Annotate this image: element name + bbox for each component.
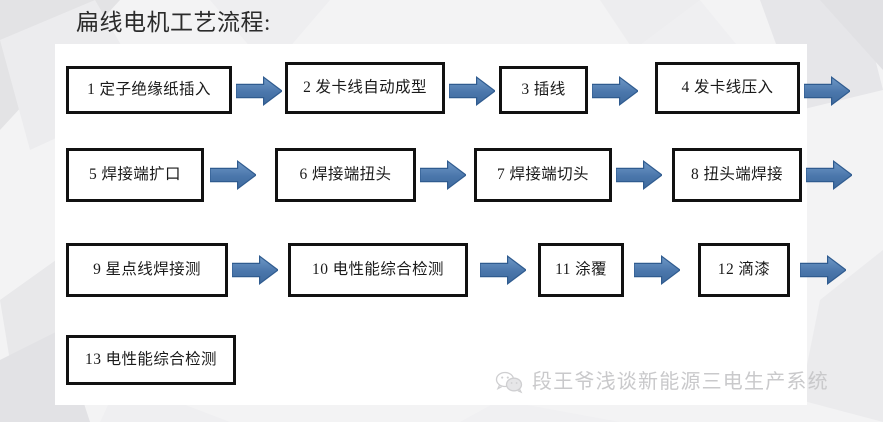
process-step-label: 1 定子绝缘纸插入 bbox=[87, 81, 211, 98]
process-step-label: 9 星点线焊接测 bbox=[93, 261, 201, 278]
process-step-label: 5 焊接端扩口 bbox=[89, 166, 181, 183]
flow-arrow-right-icon bbox=[420, 160, 466, 190]
slide-canvas: 扁线电机工艺流程: 1 定子绝缘纸插入2 发卡线自动成型3 插线4 发卡线压入5… bbox=[0, 0, 883, 422]
process-step-label: 3 插线 bbox=[521, 81, 565, 98]
process-step-8[interactable]: 8 扭头端焊接 bbox=[672, 148, 802, 202]
wechat-icon bbox=[494, 370, 524, 394]
process-step-11[interactable]: 11 涂覆 bbox=[538, 243, 624, 297]
process-step-label: 10 电性能综合检测 bbox=[312, 261, 444, 278]
flow-arrow-right-icon bbox=[480, 255, 526, 285]
process-step-3[interactable]: 3 插线 bbox=[499, 66, 588, 114]
process-step-label: 13 电性能综合检测 bbox=[85, 351, 217, 368]
process-step-6[interactable]: 6 焊接端扭头 bbox=[275, 148, 416, 202]
flow-arrow-right-icon bbox=[232, 255, 278, 285]
flow-arrow-right-icon bbox=[449, 76, 495, 106]
process-step-label: 7 焊接端切头 bbox=[497, 166, 589, 183]
process-step-12[interactable]: 12 滴漆 bbox=[698, 243, 790, 297]
flow-arrow-right-icon bbox=[634, 255, 680, 285]
process-step-1[interactable]: 1 定子绝缘纸插入 bbox=[66, 66, 232, 114]
flow-arrow-right-icon bbox=[236, 76, 282, 106]
process-step-label: 4 发卡线压入 bbox=[682, 79, 774, 96]
flow-arrow-right-icon bbox=[804, 76, 850, 106]
process-step-label: 11 涂覆 bbox=[555, 261, 607, 278]
flow-arrow-right-icon bbox=[800, 255, 846, 285]
process-step-5[interactable]: 5 焊接端扩口 bbox=[66, 148, 204, 202]
process-step-2[interactable]: 2 发卡线自动成型 bbox=[285, 62, 445, 114]
flow-arrow-right-icon bbox=[592, 76, 638, 106]
process-step-label: 12 滴漆 bbox=[718, 261, 770, 278]
process-step-label: 8 扭头端焊接 bbox=[691, 166, 783, 183]
process-step-7[interactable]: 7 焊接端切头 bbox=[474, 148, 612, 202]
process-step-10[interactable]: 10 电性能综合检测 bbox=[288, 243, 468, 297]
flow-arrow-right-icon bbox=[806, 160, 852, 190]
process-flow-diagram: 1 定子绝缘纸插入2 发卡线自动成型3 插线4 发卡线压入5 焊接端扩口6 焊接… bbox=[0, 0, 883, 422]
process-step-label: 6 焊接端扭头 bbox=[300, 166, 392, 183]
footer-watermark: 段王爷浅谈新能源三电生产系统 bbox=[494, 367, 829, 397]
flow-arrow-right-icon bbox=[210, 160, 256, 190]
flow-arrow-right-icon bbox=[616, 160, 662, 190]
process-step-9[interactable]: 9 星点线焊接测 bbox=[66, 243, 228, 297]
process-step-label: 2 发卡线自动成型 bbox=[303, 79, 427, 96]
process-step-4[interactable]: 4 发卡线压入 bbox=[655, 62, 800, 114]
watermark-text: 段王爷浅谈新能源三电生产系统 bbox=[532, 369, 829, 395]
process-step-13[interactable]: 13 电性能综合检测 bbox=[66, 335, 236, 385]
